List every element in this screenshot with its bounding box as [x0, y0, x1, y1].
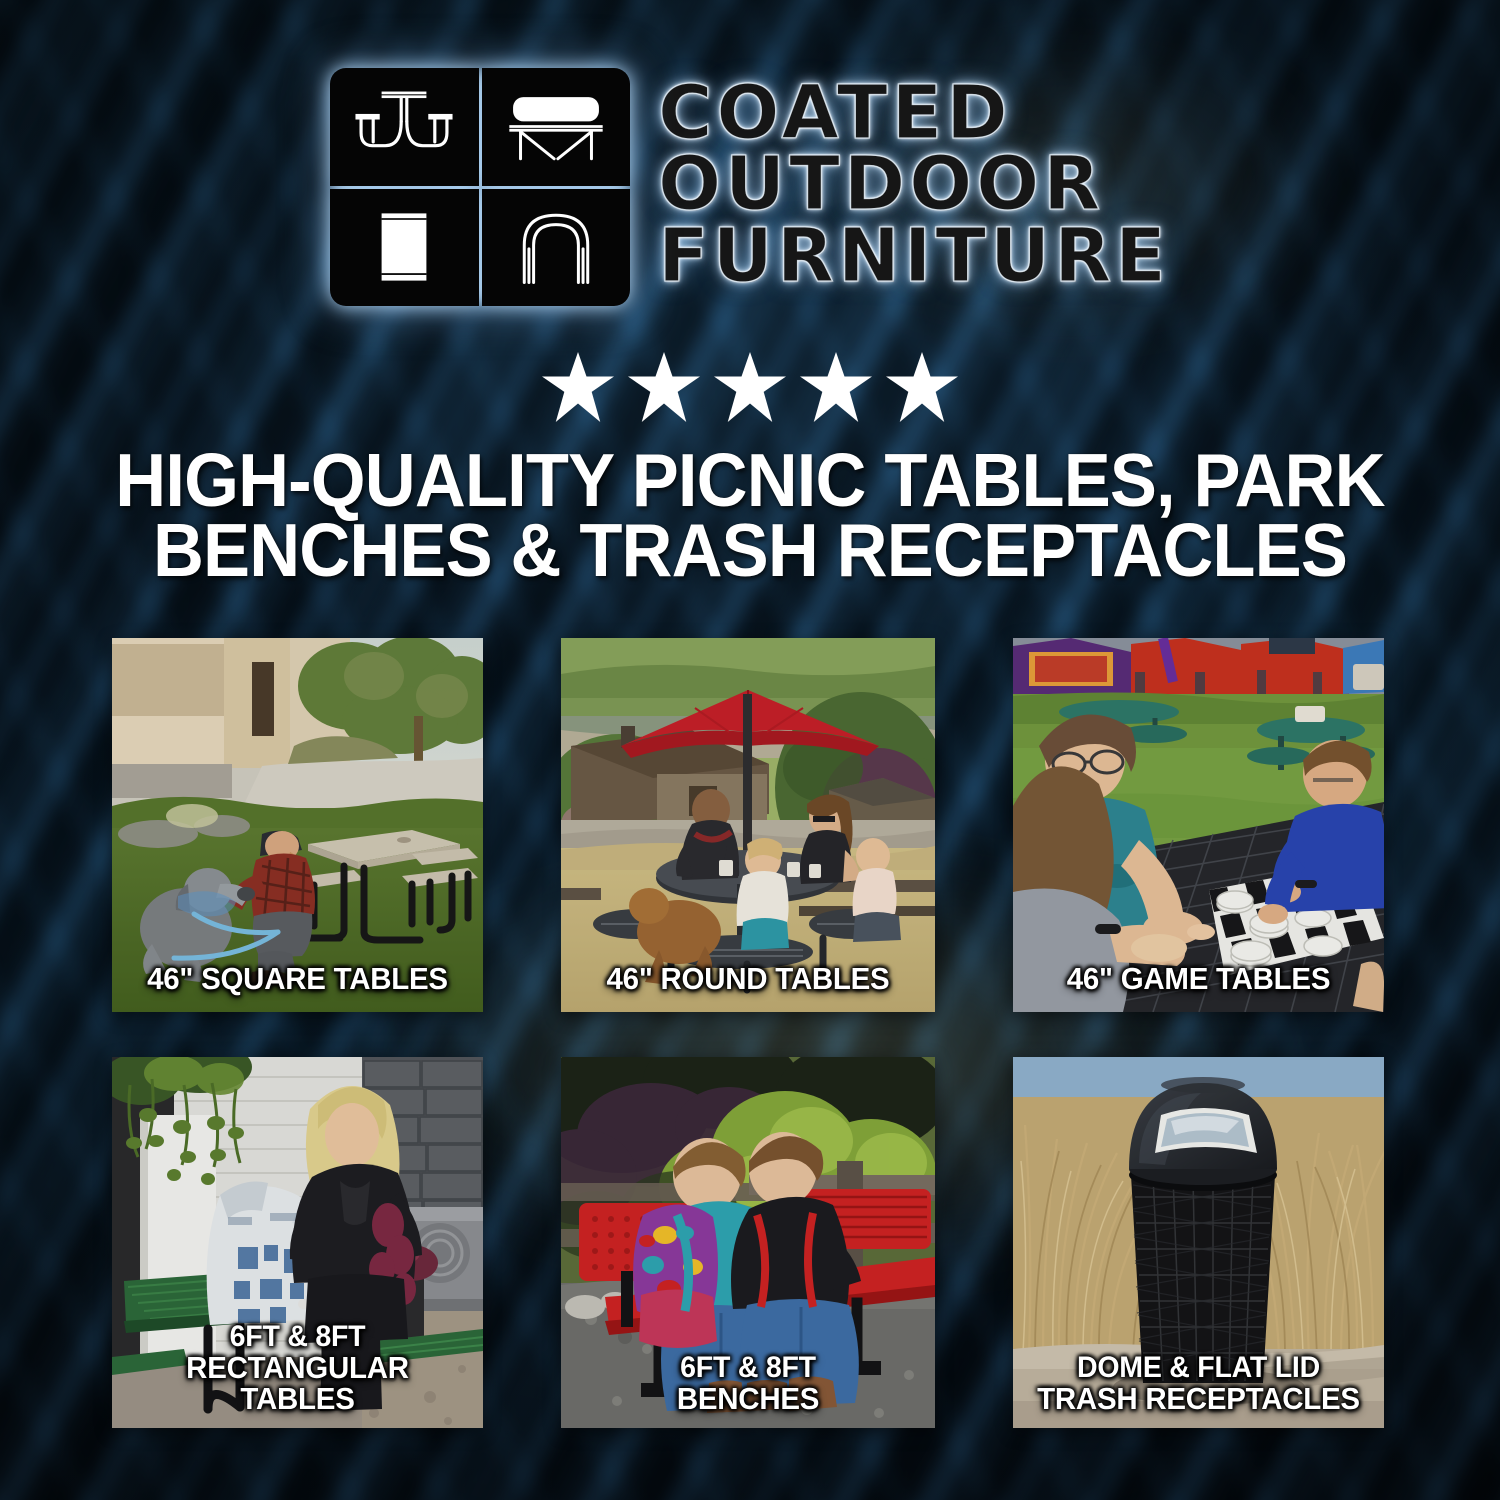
product-caption-rectangular-tables: 6FT & 8FT RECTANGULAR TABLES: [127, 1322, 468, 1414]
caption-line: 6FT & 8FT: [576, 1353, 920, 1383]
brand-logo-mark: [330, 68, 630, 306]
park-bench-icon: [482, 68, 631, 186]
star-rating: [0, 352, 1500, 422]
star-icon: [542, 352, 614, 422]
product-grid: 46" SQUARE TABLES: [112, 638, 1376, 1428]
caption-line: DOME & FLAT LID: [1028, 1353, 1369, 1383]
trash-receptacle-icon: [330, 189, 479, 307]
star-icon: [628, 352, 700, 422]
page-title: HIGH-QUALITY PICNIC TABLES, PARK BENCHES…: [101, 446, 1398, 586]
product-caption-trash-receptacles: DOME & FLAT LID TRASH RECEPTACLES: [1028, 1353, 1369, 1414]
bike-rack-arch-icon: [482, 189, 631, 307]
product-tile-square-tables[interactable]: 46" SQUARE TABLES: [112, 638, 483, 1012]
star-icon: [714, 352, 786, 422]
star-icon: [886, 352, 958, 422]
caption-line: 46" GAME TABLES: [1028, 963, 1369, 994]
product-caption-game-tables: 46" GAME TABLES: [1028, 963, 1369, 994]
product-tile-benches[interactable]: 6FT & 8FT BENCHES: [561, 1057, 935, 1428]
product-tile-trash-receptacles[interactable]: DOME & FLAT LID TRASH RECEPTACLES: [1013, 1057, 1384, 1428]
caption-line: 46" SQUARE TABLES: [127, 963, 468, 994]
product-caption-round-tables: 46" ROUND TABLES: [576, 963, 920, 994]
product-photo-square-tables: [112, 638, 483, 1012]
picnic-table-icon: [330, 68, 479, 186]
page-title-line-2: BENCHES & TRASH RECEPTACLES: [101, 516, 1398, 586]
brand-header: COATED OUTDOOR FURNITURE: [0, 68, 1500, 306]
product-tile-round-tables[interactable]: 46" ROUND TABLES: [561, 638, 935, 1012]
caption-line: 6FT & 8FT: [127, 1322, 468, 1352]
product-tile-game-tables[interactable]: 46" GAME TABLES: [1013, 638, 1384, 1012]
brand-wordmark-line-1: COATED: [658, 79, 1170, 149]
caption-line: TRASH RECEPTACLES: [1028, 1383, 1369, 1414]
product-caption-benches: 6FT & 8FT BENCHES: [576, 1353, 920, 1414]
page-title-line-1: HIGH-QUALITY PICNIC TABLES, PARK: [101, 446, 1398, 516]
star-icon: [800, 352, 872, 422]
caption-line: BENCHES: [576, 1383, 920, 1414]
product-tile-rectangular-tables[interactable]: 6FT & 8FT RECTANGULAR TABLES: [112, 1057, 483, 1428]
product-photo-round-tables: [561, 638, 935, 1012]
caption-line: RECTANGULAR TABLES: [127, 1352, 468, 1414]
poster-canvas: COATED OUTDOOR FURNITURE HIGH-QUALITY PI…: [0, 0, 1500, 1500]
product-photo-game-tables: [1013, 638, 1384, 1012]
brand-wordmark-line-3: FURNITURE: [658, 222, 1170, 292]
brand-wordmark-line-2: OUTDOOR: [658, 150, 1170, 220]
caption-line: 46" ROUND TABLES: [576, 963, 920, 994]
brand-wordmark: COATED OUTDOOR FURNITURE: [658, 79, 1170, 296]
product-caption-square-tables: 46" SQUARE TABLES: [127, 963, 468, 994]
